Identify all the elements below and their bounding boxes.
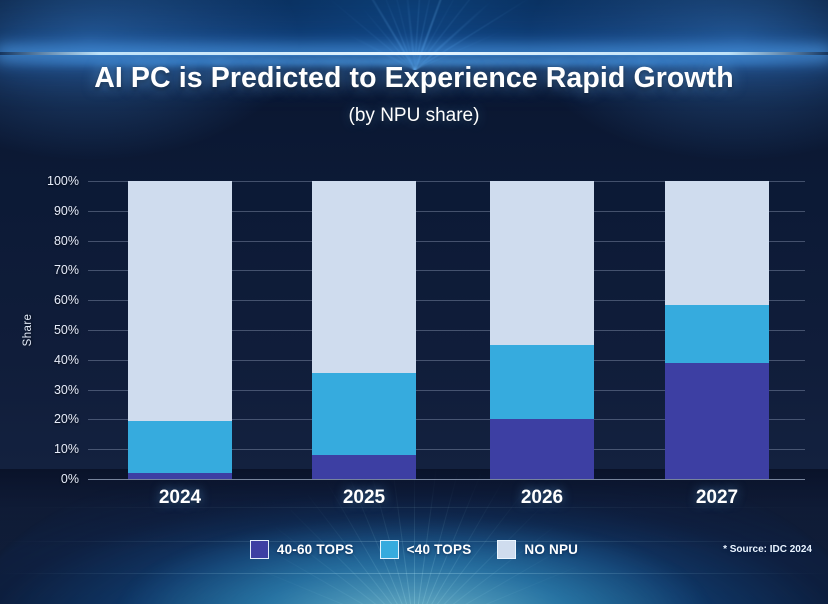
y-axis-tick-label: 10% bbox=[54, 442, 79, 456]
legend-swatch bbox=[250, 540, 269, 559]
y-axis-tick-label: 20% bbox=[54, 412, 79, 426]
bar-segment--40-tops[interactable] bbox=[128, 421, 232, 473]
x-axis-tick-label: 2024 bbox=[128, 487, 232, 509]
y-axis-tick-label: 90% bbox=[54, 204, 79, 218]
legend-label: <40 TOPS bbox=[407, 542, 472, 557]
x-axis-tick-label: 2025 bbox=[312, 487, 416, 509]
slide-canvas: AI PC is Predicted to Experience Rapid G… bbox=[0, 0, 828, 604]
y-axis-tick-label: 100% bbox=[47, 174, 79, 188]
bar-segment-no-npu[interactable] bbox=[665, 181, 769, 305]
y-axis-tick-label: 0% bbox=[61, 472, 79, 486]
bar-2025[interactable] bbox=[312, 181, 416, 479]
y-axis-tick-label: 80% bbox=[54, 234, 79, 248]
bar-segment-40-60-tops[interactable] bbox=[665, 363, 769, 479]
legend-label: 40-60 TOPS bbox=[277, 542, 354, 557]
y-axis-title: Share bbox=[22, 314, 34, 347]
y-axis-tick-label: 40% bbox=[54, 353, 79, 367]
bar-segment-40-60-tops[interactable] bbox=[490, 419, 594, 479]
gridline bbox=[88, 479, 805, 480]
legend-label: NO NPU bbox=[524, 542, 578, 557]
bar-segment-40-60-tops[interactable] bbox=[312, 455, 416, 479]
bar-segment--40-tops[interactable] bbox=[312, 373, 416, 455]
bar-segment-no-npu[interactable] bbox=[312, 181, 416, 373]
y-axis-tick-label: 50% bbox=[54, 323, 79, 337]
legend-swatch bbox=[497, 540, 516, 559]
legend-item--40-tops[interactable]: <40 TOPS bbox=[380, 540, 472, 559]
bar-2024[interactable] bbox=[128, 181, 232, 479]
x-axis-tick-label: 2027 bbox=[665, 487, 769, 509]
bar-segment--40-tops[interactable] bbox=[665, 305, 769, 363]
legend-swatch bbox=[380, 540, 399, 559]
bar-segment-no-npu[interactable] bbox=[128, 181, 232, 421]
bar-segment-40-60-tops[interactable] bbox=[128, 473, 232, 479]
legend-item-40-60-tops[interactable]: 40-60 TOPS bbox=[250, 540, 354, 559]
bar-segment-no-npu[interactable] bbox=[490, 181, 594, 345]
source-note: * Source: IDC 2024 bbox=[723, 544, 812, 555]
y-axis-tick-label: 30% bbox=[54, 383, 79, 397]
chart-figure: Share 0%10%20%30%40%50%60%70%80%90%100%2… bbox=[0, 0, 828, 604]
bar-segment--40-tops[interactable] bbox=[490, 345, 594, 420]
y-axis-tick-label: 60% bbox=[54, 293, 79, 307]
legend-item-no-npu[interactable]: NO NPU bbox=[497, 540, 578, 559]
y-axis-tick-label: 70% bbox=[54, 263, 79, 277]
x-axis-tick-label: 2026 bbox=[490, 487, 594, 509]
bar-2027[interactable] bbox=[665, 181, 769, 479]
bar-2026[interactable] bbox=[490, 181, 594, 479]
plot-area: 0%10%20%30%40%50%60%70%80%90%100%2024202… bbox=[88, 181, 805, 479]
chart-legend: 40-60 TOPS<40 TOPSNO NPU bbox=[0, 540, 828, 559]
